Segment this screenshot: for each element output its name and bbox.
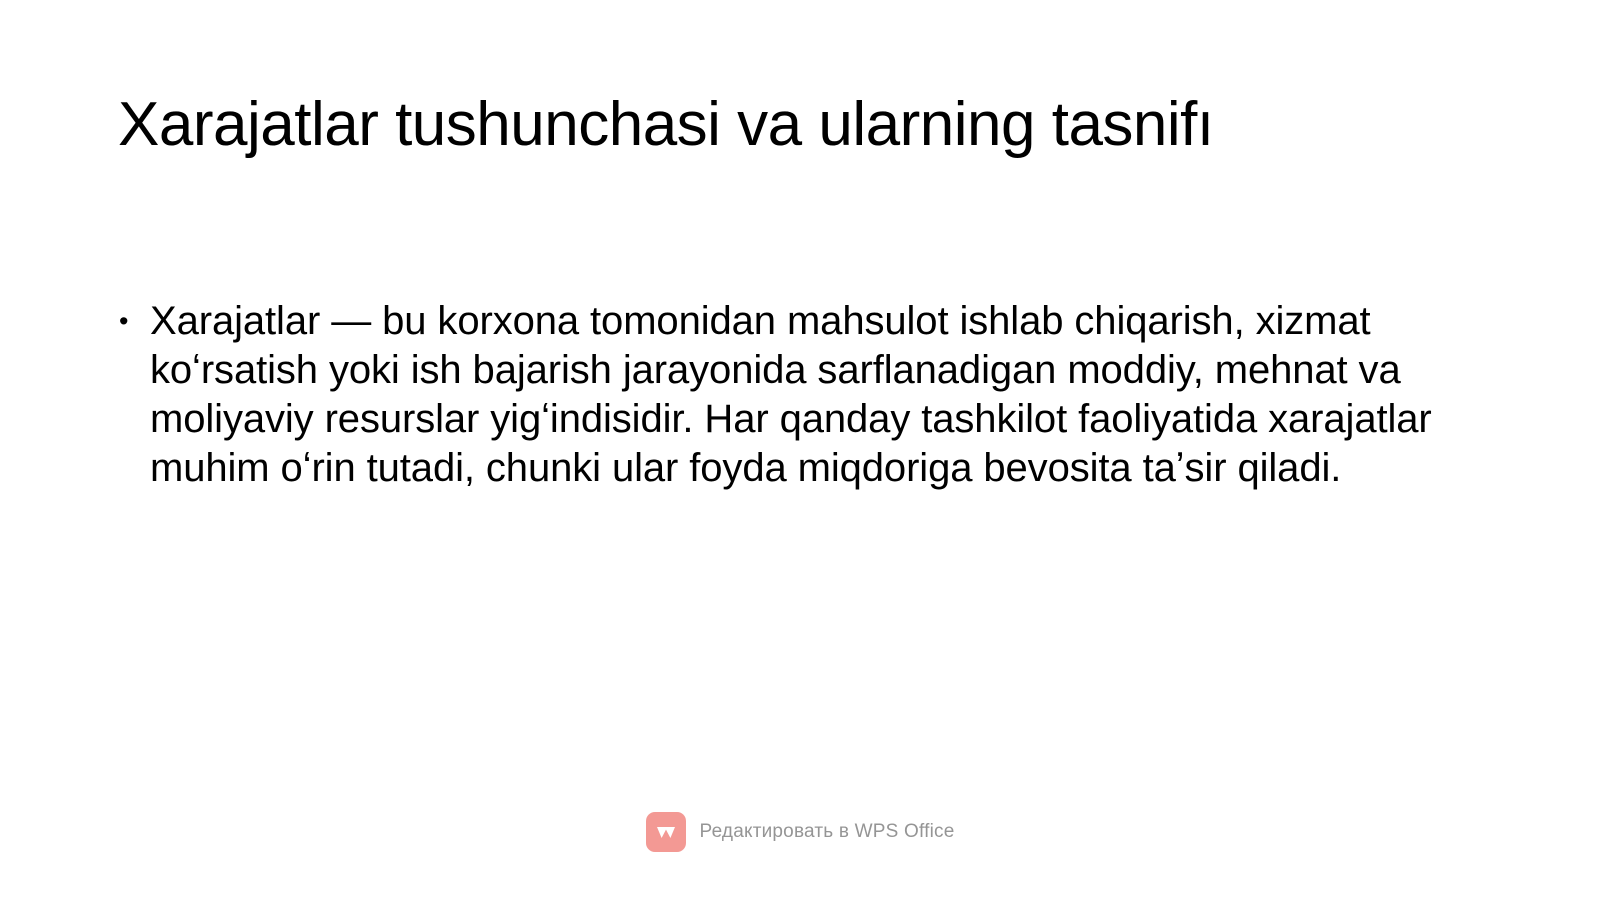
- wps-watermark: Редактировать в WPS Office: [0, 812, 1600, 852]
- slide-canvas: Xarajatlar tushunchasi va ularning tasni…: [0, 0, 1600, 900]
- wps-office-logo-icon: [646, 812, 686, 852]
- wps-watermark-label: Редактировать в WPS Office: [700, 821, 955, 843]
- list-item: Xarajatlar — bu korxona tomonidan mahsul…: [118, 297, 1478, 493]
- page-title: Xarajatlar tushunchasi va ularning tasni…: [118, 88, 1498, 161]
- slide-body: Xarajatlar — bu korxona tomonidan mahsul…: [118, 297, 1478, 493]
